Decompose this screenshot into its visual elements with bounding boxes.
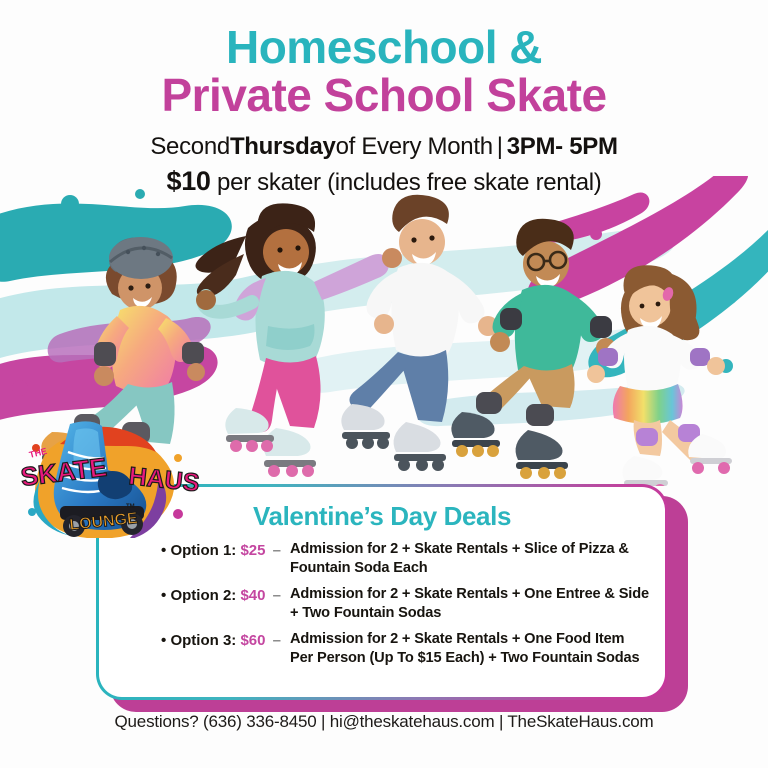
- deal-option-label: Option 3:: [170, 632, 236, 649]
- schedule-prefix: Second: [150, 133, 230, 160]
- deal-option-price: $40: [240, 587, 265, 604]
- deal-option-label-group: • Option 3: $60 –: [113, 630, 281, 650]
- deal-option-row: • Option 1: $25 – Admission for 2 + Skat…: [113, 540, 651, 578]
- page-title-line2-text: Private School Skate: [161, 69, 606, 121]
- deal-option-label: Option 1:: [170, 542, 236, 559]
- schedule-middle: of Every Month: [336, 133, 493, 160]
- quad-skate-right: [688, 434, 732, 474]
- inline-skate-right-3: [341, 404, 390, 449]
- inline-skate-left-4: [516, 430, 568, 479]
- deal-option-dash: –: [270, 632, 281, 649]
- deal-bullet: •: [161, 587, 166, 604]
- deal-option-row: • Option 3: $60 – Admission for 2 + Skat…: [113, 630, 651, 668]
- deal-option-description: Admission for 2 + Skate Rentals + Slice …: [281, 540, 651, 578]
- page-title-line2: Private School Skate: [0, 72, 768, 120]
- contact-text: Questions? (636) 336-8450 | hi@theskateh…: [115, 712, 654, 731]
- skate-haus-logo: THE SKATE HAUS LOUNGE TM: [8, 418, 208, 538]
- deal-option-row: • Option 2: $40 – Admission for 2 + Skat…: [113, 585, 651, 623]
- deal-option-description: Admission for 2 + Skate Rentals + One Fo…: [281, 630, 651, 668]
- schedule-line: SecondThursdayof Every Month|3PM- 5PM: [0, 120, 768, 163]
- schedule-separator: |: [493, 133, 507, 160]
- deal-bullet: •: [161, 542, 166, 559]
- deal-option-dash: –: [270, 542, 281, 559]
- logo-svg: THE SKATE HAUS LOUNGE TM: [8, 418, 208, 538]
- contact-footer: Questions? (636) 336-8450 | hi@theskateh…: [0, 712, 768, 732]
- deal-option-price: $25: [240, 542, 265, 559]
- schedule-time: 3PM- 5PM: [507, 133, 618, 160]
- price-line: $10 per skater (includes free skate rent…: [0, 162, 768, 199]
- deals-option-list: • Option 1: $25 – Admission for 2 + Skat…: [99, 532, 665, 668]
- flyer-canvas: Homeschool & Private School Skate Second…: [0, 0, 768, 768]
- deal-bullet: •: [161, 632, 166, 649]
- header: Homeschool & Private School Skate Second…: [0, 0, 768, 199]
- page-title-line1-text: Homeschool &: [226, 21, 542, 73]
- deal-option-dash: –: [270, 587, 281, 604]
- schedule-day: Thursday: [230, 133, 336, 160]
- logo-tm-text: TM: [126, 504, 135, 510]
- deal-option-label-group: • Option 1: $25 –: [113, 540, 281, 560]
- page-title-line1: Homeschool &: [0, 0, 768, 72]
- quad-skate-left: [622, 456, 668, 486]
- deal-option-price: $60: [240, 632, 265, 649]
- inline-skate-left-3: [394, 422, 446, 471]
- price-description: per skater (includes free skate rental): [217, 169, 601, 196]
- deal-option-label: Option 2:: [170, 587, 236, 604]
- deal-option-description: Admission for 2 + Skate Rentals + One En…: [281, 585, 651, 623]
- price-amount: $10: [166, 166, 210, 196]
- deal-option-label-group: • Option 2: $40 –: [113, 585, 281, 605]
